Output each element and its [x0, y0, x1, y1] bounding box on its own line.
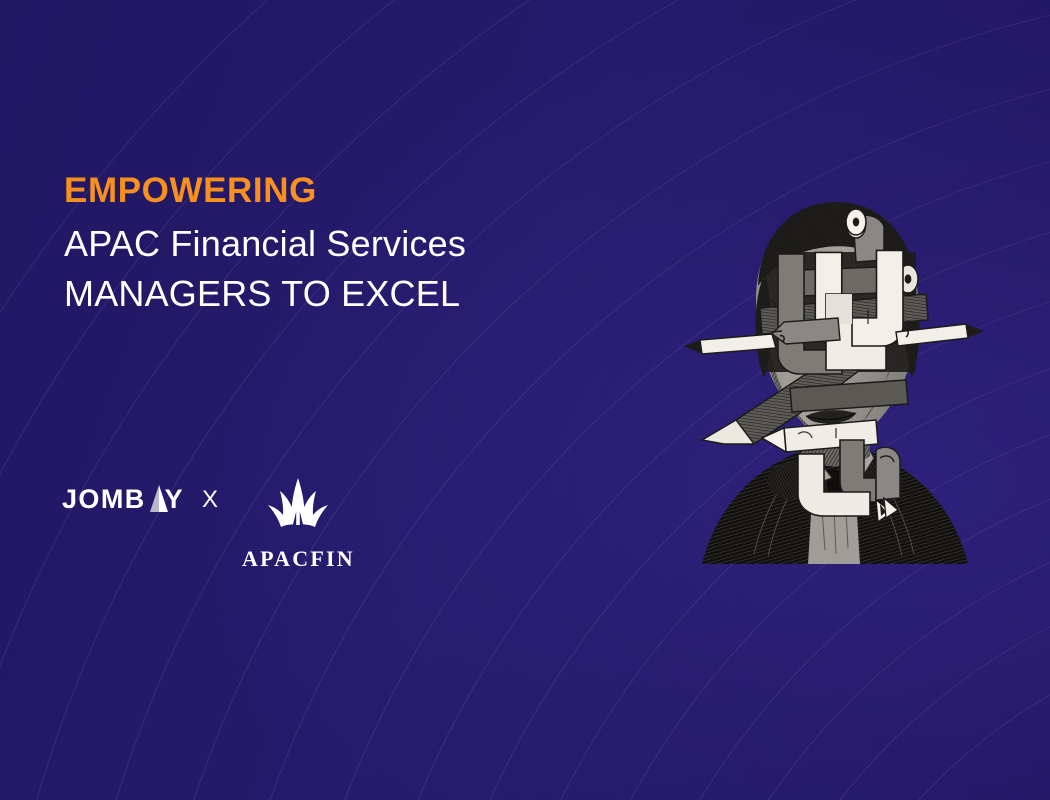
headline-block: EMPOWERING APAC Financial Services MANAG…	[64, 172, 624, 318]
logo-lockup: JOMB Y X APACFIN	[62, 478, 355, 570]
headline-line-three: MANAGERS TO EXCEL	[64, 269, 624, 319]
tangled-pencils-portrait-illustration	[680, 182, 990, 564]
headline-line-two: APAC Financial Services	[64, 219, 624, 269]
flame-praying-hands-icon	[260, 478, 336, 545]
logo-conjunction: X	[202, 488, 218, 512]
jombay-wordmark: JOMB	[62, 486, 146, 513]
jombay-logo[interactable]: JOMB Y	[62, 486, 184, 513]
triangle-pyramid-icon	[150, 485, 168, 517]
headline-eyebrow: EMPOWERING	[64, 172, 624, 209]
apacfin-wordmark: APACFIN	[242, 548, 355, 570]
apacfin-logo[interactable]: APACFIN	[242, 478, 355, 570]
promo-banner: EMPOWERING APAC Financial Services MANAG…	[0, 0, 1050, 800]
